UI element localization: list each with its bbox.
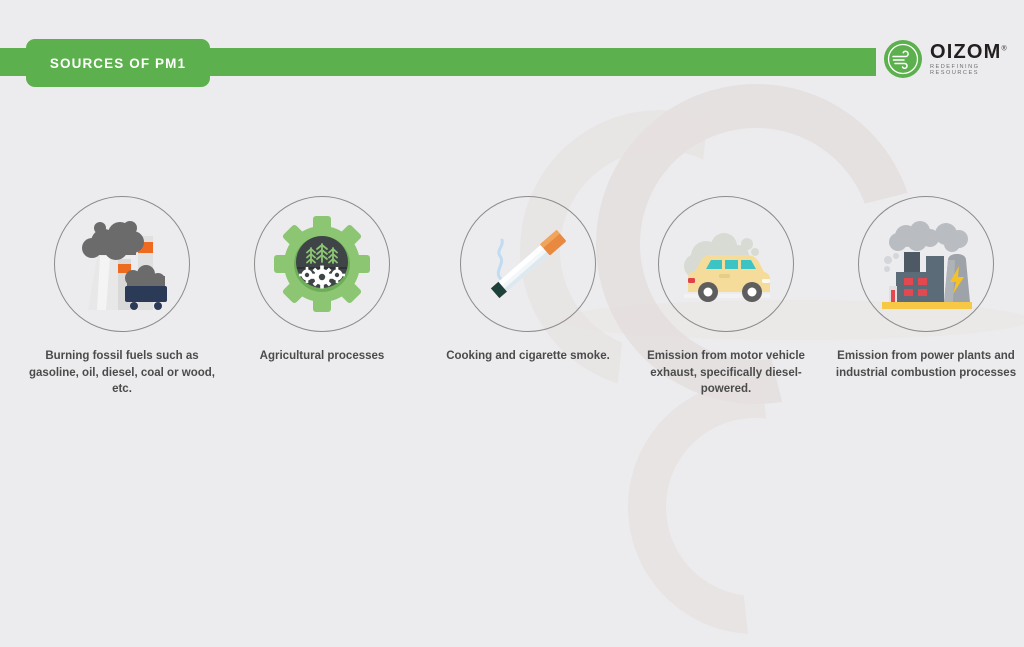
source-caption: Emission from motor vehicle exhaust, spe… — [626, 348, 826, 398]
source-card-cigarette: Cooking and cigarette smoke. — [428, 196, 628, 365]
logo-tagline: REDEFINING RESOURCES — [930, 65, 1024, 76]
factory-smokestack-coal-icon — [70, 214, 174, 314]
icon-circle — [658, 196, 794, 332]
cigarette-smoke-icon — [476, 214, 580, 314]
source-card-power-plant: Emission from power plants and industria… — [826, 196, 1024, 381]
source-card-fossil-fuels: Burning fossil fuels such as gasoline, o… — [22, 196, 222, 398]
logo-name: OIZOM® — [930, 42, 1024, 62]
icon-circle — [858, 196, 994, 332]
wind-swirl-icon — [884, 40, 922, 78]
source-caption: Emission from power plants and industria… — [826, 348, 1024, 381]
watermark-swirl-bottom — [615, 367, 894, 646]
source-caption: Cooking and cigarette smoke. — [428, 348, 628, 365]
registered-mark: ® — [1002, 45, 1008, 52]
source-caption: Agricultural processes — [222, 348, 422, 365]
icon-circle — [254, 196, 390, 332]
logo-text: OIZOM® REDEFINING RESOURCES — [930, 42, 1024, 76]
page-title-box: SOURCES OF PM1 — [26, 39, 210, 87]
brand-logo: OIZOM® REDEFINING RESOURCES — [884, 40, 1024, 78]
car-exhaust-icon — [672, 216, 780, 312]
infographic-canvas: SOURCES OF PM1 OIZOM® REDEFINING RESOURC… — [0, 0, 1024, 538]
source-caption: Burning fossil fuels such as gasoline, o… — [22, 348, 222, 398]
source-card-agriculture: Agricultural processes — [222, 196, 422, 365]
page-title: SOURCES OF PM1 — [50, 56, 186, 71]
icon-circle — [54, 196, 190, 332]
power-plant-icon — [874, 214, 978, 314]
icon-circle — [460, 196, 596, 332]
agriculture-gear-wheat-icon — [270, 212, 374, 316]
source-card-vehicle: Emission from motor vehicle exhaust, spe… — [626, 196, 826, 398]
